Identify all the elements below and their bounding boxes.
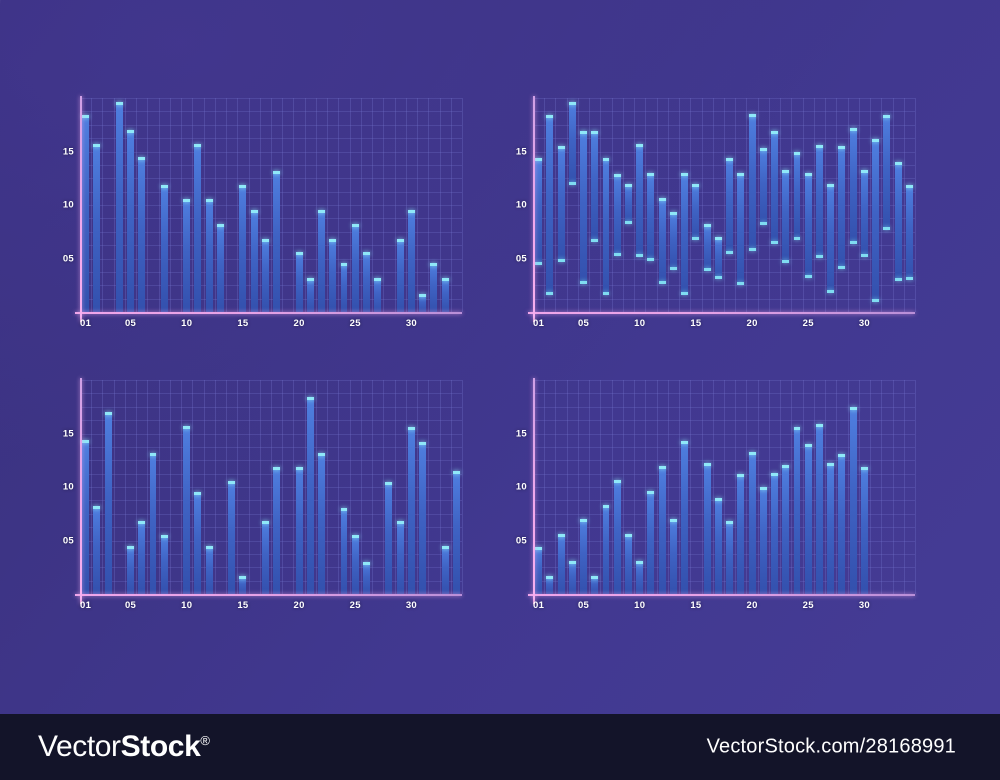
x-axis-origin-label: 01 xyxy=(80,318,91,329)
bar-cap-top xyxy=(183,426,190,429)
bar-cap-bottom xyxy=(861,254,868,257)
bar xyxy=(850,128,857,244)
bar xyxy=(861,170,868,258)
bar-cap-top xyxy=(206,546,213,549)
bar xyxy=(161,535,168,594)
bar-cap-bottom xyxy=(704,268,711,271)
bar xyxy=(883,115,890,229)
y-axis-line xyxy=(80,378,82,604)
x-axis-line xyxy=(75,312,462,314)
gridline-horizontal xyxy=(533,165,915,166)
bar-cap-top xyxy=(636,144,643,147)
bar-cap-top xyxy=(150,453,157,456)
gridline-horizontal xyxy=(80,152,462,153)
gridline-horizontal xyxy=(80,259,462,260)
gridline-horizontal xyxy=(80,500,462,501)
gridline-horizontal xyxy=(80,98,462,99)
gridline-horizontal xyxy=(533,380,915,381)
bar-cap-top xyxy=(239,576,246,579)
bar-cap-top xyxy=(692,184,699,187)
x-axis-tick-label: 30 xyxy=(406,318,417,329)
bar-cap-top xyxy=(194,144,201,147)
logo-text-bold: Stock xyxy=(121,730,201,763)
gridline-horizontal xyxy=(80,514,462,515)
bar xyxy=(670,212,677,270)
bar xyxy=(827,463,834,594)
bar xyxy=(385,482,392,594)
gridline-horizontal xyxy=(80,420,462,421)
bar xyxy=(228,481,235,594)
bar xyxy=(569,102,576,184)
watermark-bar: VectorStock® VectorStock.com/28168991 xyxy=(0,714,1000,780)
bar-cap-top xyxy=(419,294,426,297)
bar xyxy=(558,146,565,262)
bar xyxy=(861,467,868,594)
bar-cap-bottom xyxy=(805,275,812,278)
bar-cap-bottom xyxy=(715,276,722,279)
bar xyxy=(670,519,677,594)
bar-cap-top xyxy=(318,453,325,456)
bar xyxy=(183,426,190,594)
bar xyxy=(105,412,112,594)
x-axis-tick-label: 10 xyxy=(181,600,192,611)
x-axis-tick-label: 10 xyxy=(634,318,645,329)
bar-cap-top xyxy=(430,263,437,266)
bar-cap-top xyxy=(296,467,303,470)
gridline-horizontal xyxy=(80,192,462,193)
bar xyxy=(93,144,100,312)
bar-cap-bottom xyxy=(771,241,778,244)
gridline-horizontal xyxy=(533,111,915,112)
bar-cap-bottom xyxy=(591,239,598,242)
bar-cap-top xyxy=(341,508,348,511)
bar xyxy=(805,173,812,278)
bar-cap-top xyxy=(217,224,224,227)
x-axis-tick-label: 25 xyxy=(803,600,814,611)
grid-lines xyxy=(533,98,915,312)
bar-cap-top xyxy=(138,157,145,160)
bar-cap-top xyxy=(850,128,857,131)
bar xyxy=(453,471,460,594)
bar-cap-top xyxy=(771,131,778,134)
bar xyxy=(782,465,789,594)
bar xyxy=(726,158,733,254)
gridline-horizontal xyxy=(80,460,462,461)
bar xyxy=(307,278,314,312)
bar xyxy=(430,263,437,312)
bar-cap-top xyxy=(760,148,767,151)
gridline-horizontal xyxy=(80,447,462,448)
bar-cap-top xyxy=(715,237,722,240)
bar xyxy=(138,157,145,312)
x-axis-tick-label: 25 xyxy=(350,318,361,329)
gridline-vertical xyxy=(915,98,916,312)
gridline-horizontal xyxy=(533,192,915,193)
bar-cap-bottom xyxy=(906,277,913,280)
bar xyxy=(296,252,303,312)
gridline-horizontal xyxy=(533,393,915,394)
gridline-horizontal xyxy=(533,487,915,488)
bar xyxy=(692,184,699,241)
bar-cap-top xyxy=(715,498,722,501)
x-axis-tick-label: 05 xyxy=(578,600,589,611)
bar xyxy=(805,444,812,594)
gridline-horizontal xyxy=(533,500,915,501)
bar-cap-top xyxy=(659,466,666,469)
bar-cap-top xyxy=(580,519,587,522)
bar xyxy=(771,131,778,243)
bar xyxy=(625,534,632,594)
bar-cap-top xyxy=(273,171,280,174)
bar-cap-top xyxy=(805,444,812,447)
bar-cap-top xyxy=(850,407,857,410)
bar-cap-top xyxy=(794,152,801,155)
bar-cap-top xyxy=(262,521,269,524)
bar-cap-top xyxy=(161,185,168,188)
gridline-horizontal xyxy=(80,165,462,166)
x-axis-tick-label: 05 xyxy=(125,600,136,611)
bar-cap-bottom xyxy=(670,267,677,270)
bar-cap-bottom xyxy=(546,292,553,295)
bar-cap-top xyxy=(614,480,621,483)
bar xyxy=(872,139,879,303)
gridline-horizontal xyxy=(80,407,462,408)
gridline-horizontal xyxy=(533,474,915,475)
bar-cap-top xyxy=(569,561,576,564)
y-axis-tick-label: 10 xyxy=(507,200,527,211)
bar xyxy=(127,130,134,312)
bar-cap-bottom xyxy=(760,222,767,225)
bar-cap-top xyxy=(704,224,711,227)
bar xyxy=(850,407,857,594)
gridline-horizontal xyxy=(533,245,915,246)
bar-cap-top xyxy=(906,185,913,188)
bar xyxy=(239,185,246,312)
bar xyxy=(647,173,654,261)
bar-cap-top xyxy=(535,547,542,550)
bar xyxy=(625,184,632,225)
bar-cap-top xyxy=(93,506,100,509)
bar xyxy=(318,453,325,594)
bar-cap-top xyxy=(453,471,460,474)
bar xyxy=(838,146,845,269)
gridline-horizontal xyxy=(533,205,915,206)
bar xyxy=(715,237,722,279)
bar-cap-top xyxy=(771,473,778,476)
bar xyxy=(363,252,370,312)
bar-cap-top xyxy=(647,491,654,494)
gridline-horizontal xyxy=(80,393,462,394)
bar xyxy=(591,131,598,242)
grid-lines xyxy=(80,98,462,312)
gridline-horizontal xyxy=(533,138,915,139)
bar-cap-bottom xyxy=(603,292,610,295)
gridline-horizontal xyxy=(80,554,462,555)
bar-cap-top xyxy=(726,521,733,524)
bar-cap-top xyxy=(558,146,565,149)
gridline-horizontal xyxy=(533,567,915,568)
bar-cap-top xyxy=(760,487,767,490)
gridline-horizontal xyxy=(533,407,915,408)
gridline-horizontal xyxy=(80,111,462,112)
bar xyxy=(782,170,789,263)
bar-cap-bottom xyxy=(614,253,621,256)
x-axis-line xyxy=(528,312,915,314)
bar-cap-top xyxy=(161,535,168,538)
x-axis-tick-label: 05 xyxy=(125,318,136,329)
bar-cap-bottom xyxy=(659,281,666,284)
bar xyxy=(352,224,359,312)
bar-cap-bottom xyxy=(794,237,801,240)
bar-cap-top xyxy=(883,115,890,118)
x-axis-tick-label: 15 xyxy=(237,318,248,329)
y-axis-tick-label: 15 xyxy=(507,428,527,439)
y-axis-tick-label: 15 xyxy=(54,146,74,157)
bar xyxy=(138,521,145,594)
bar-cap-bottom xyxy=(782,260,789,263)
bar xyxy=(816,424,823,594)
x-axis-tick-label: 20 xyxy=(746,600,757,611)
bar-cap-top xyxy=(307,397,314,400)
bar-cap-top xyxy=(681,173,688,176)
bar-cap-top xyxy=(670,519,677,522)
bar-cap-top xyxy=(397,521,404,524)
bar-cap-bottom xyxy=(895,278,902,281)
bar-cap-top xyxy=(580,131,587,134)
bar-cap-top xyxy=(82,440,89,443)
bar xyxy=(838,454,845,594)
bar-cap-top xyxy=(341,263,348,266)
bar-cap-top xyxy=(681,441,688,444)
bar-cap-top xyxy=(352,535,359,538)
bar-cap-top xyxy=(558,534,565,537)
bar xyxy=(397,239,404,312)
bar-cap-top xyxy=(805,173,812,176)
gridline-horizontal xyxy=(533,527,915,528)
bar xyxy=(659,198,666,285)
bar xyxy=(535,547,542,594)
x-axis-tick-label: 20 xyxy=(746,318,757,329)
bar-cap-top xyxy=(262,239,269,242)
bar xyxy=(341,508,348,594)
bar-cap-top xyxy=(183,199,190,202)
bar xyxy=(341,263,348,312)
bar-cap-top xyxy=(352,224,359,227)
gridline-horizontal xyxy=(533,125,915,126)
gridline-horizontal xyxy=(533,541,915,542)
chart-panel-top-left: 05101501051015202530 xyxy=(80,98,502,338)
gridline-horizontal xyxy=(533,178,915,179)
bar-cap-bottom xyxy=(647,258,654,261)
gridline-horizontal xyxy=(80,567,462,568)
gridline-horizontal xyxy=(533,285,915,286)
bar-cap-top xyxy=(625,534,632,537)
y-axis-tick-label: 10 xyxy=(54,200,74,211)
x-axis-tick-label: 15 xyxy=(690,600,701,611)
logo-text-thin: Vector xyxy=(38,730,121,763)
bar xyxy=(442,546,449,594)
gridline-horizontal xyxy=(80,487,462,488)
bar xyxy=(217,224,224,312)
bar-cap-bottom xyxy=(827,290,834,293)
bar-cap-top xyxy=(749,452,756,455)
bar xyxy=(760,487,767,594)
bar xyxy=(704,224,711,271)
gridline-horizontal xyxy=(80,285,462,286)
bar xyxy=(749,452,756,594)
gridline-vertical xyxy=(915,380,916,594)
bar-cap-top xyxy=(872,139,879,142)
bar-cap-top xyxy=(82,115,89,118)
bar xyxy=(906,185,913,280)
bar xyxy=(760,148,767,225)
bar xyxy=(681,173,688,295)
bar-cap-top xyxy=(239,185,246,188)
bar-cap-top xyxy=(93,144,100,147)
bar xyxy=(116,102,123,312)
bar-cap-top xyxy=(408,210,415,213)
bar xyxy=(614,480,621,594)
gridline-horizontal xyxy=(533,434,915,435)
bar xyxy=(737,173,744,285)
bar xyxy=(206,199,213,312)
bar-cap-top xyxy=(704,463,711,466)
watermark-url: VectorStock.com/28168991 xyxy=(707,736,956,759)
gridline-horizontal xyxy=(533,447,915,448)
bar-cap-top xyxy=(749,114,756,117)
bar-cap-top xyxy=(127,546,134,549)
bar-cap-top xyxy=(363,562,370,565)
gridline-horizontal xyxy=(80,178,462,179)
bar-cap-top xyxy=(374,278,381,281)
bar xyxy=(569,561,576,594)
bar-cap-bottom xyxy=(636,254,643,257)
bar xyxy=(82,440,89,594)
bar-cap-top xyxy=(838,454,845,457)
bar-cap-top xyxy=(569,102,576,105)
bar-cap-top xyxy=(782,170,789,173)
bar-cap-top xyxy=(782,465,789,468)
bar-cap-top xyxy=(625,184,632,187)
y-axis-tick-label: 05 xyxy=(54,535,74,546)
bar xyxy=(442,278,449,312)
bar-cap-bottom xyxy=(558,259,565,262)
bar xyxy=(307,397,314,594)
bar-cap-top xyxy=(397,239,404,242)
bar xyxy=(749,114,756,251)
registered-mark-icon: ® xyxy=(200,733,209,748)
bar xyxy=(647,491,654,594)
gridline-horizontal xyxy=(533,152,915,153)
bar xyxy=(296,467,303,594)
bar xyxy=(194,492,201,594)
bar-cap-bottom xyxy=(569,182,576,185)
bar-cap-top xyxy=(895,162,902,165)
bar-cap-top xyxy=(116,102,123,105)
bar-cap-top xyxy=(659,198,666,201)
bar-cap-top xyxy=(861,170,868,173)
bar-cap-bottom xyxy=(681,292,688,295)
bar xyxy=(827,184,834,293)
x-axis-origin-label: 01 xyxy=(533,318,544,329)
chart-panel-top-right: 05101501051015202530 xyxy=(533,98,955,338)
x-axis-line xyxy=(528,594,915,596)
bar-cap-top xyxy=(737,173,744,176)
bar-cap-bottom xyxy=(726,251,733,254)
gridline-horizontal xyxy=(533,272,915,273)
bar xyxy=(715,498,722,594)
x-axis-tick-label: 25 xyxy=(350,600,361,611)
bar xyxy=(794,152,801,241)
x-axis-tick-label: 05 xyxy=(578,318,589,329)
bar xyxy=(704,463,711,594)
bar-cap-top xyxy=(861,467,868,470)
bar-cap-top xyxy=(363,252,370,255)
bar-cap-top xyxy=(408,427,415,430)
gridline-horizontal xyxy=(533,514,915,515)
bar-cap-top xyxy=(138,521,145,524)
gridline-horizontal xyxy=(80,434,462,435)
bar xyxy=(82,115,89,312)
x-axis-tick-label: 10 xyxy=(634,600,645,611)
bar-cap-top xyxy=(442,546,449,549)
plot-area xyxy=(80,380,462,594)
bar xyxy=(558,534,565,594)
bar xyxy=(546,576,553,594)
gridline-horizontal xyxy=(80,474,462,475)
x-axis-line xyxy=(75,594,462,596)
y-axis-line xyxy=(80,96,82,322)
bar-cap-bottom xyxy=(816,255,823,258)
gridline-horizontal xyxy=(533,581,915,582)
bar xyxy=(93,506,100,594)
bar-cap-top xyxy=(127,130,134,133)
bar-cap-bottom xyxy=(749,248,756,251)
bar xyxy=(206,546,213,594)
bar xyxy=(895,162,902,281)
gridline-vertical xyxy=(462,380,463,594)
bar-cap-top xyxy=(419,442,426,445)
bar xyxy=(681,441,688,594)
gridline-horizontal xyxy=(80,527,462,528)
bar-cap-top xyxy=(827,184,834,187)
bar-cap-top xyxy=(591,576,598,579)
bar xyxy=(636,144,643,257)
gridline-horizontal xyxy=(533,232,915,233)
bar xyxy=(262,521,269,594)
gridline-horizontal xyxy=(80,299,462,300)
bar-cap-top xyxy=(442,278,449,281)
bar-cap-top xyxy=(603,505,610,508)
bar xyxy=(636,561,643,594)
gridline-horizontal xyxy=(80,125,462,126)
bar-cap-top xyxy=(307,278,314,281)
bar xyxy=(408,210,415,312)
bar-cap-top xyxy=(228,481,235,484)
bar-cap-top xyxy=(827,463,834,466)
x-axis-tick-label: 30 xyxy=(859,600,870,611)
gridline-horizontal xyxy=(533,299,915,300)
bar xyxy=(329,239,336,312)
bar xyxy=(150,453,157,594)
gridline-horizontal xyxy=(533,554,915,555)
bar xyxy=(397,521,404,594)
gridline-horizontal xyxy=(533,460,915,461)
bar xyxy=(737,474,744,594)
gridline-horizontal xyxy=(533,420,915,421)
y-axis-line xyxy=(533,96,535,322)
bar-cap-top xyxy=(726,158,733,161)
